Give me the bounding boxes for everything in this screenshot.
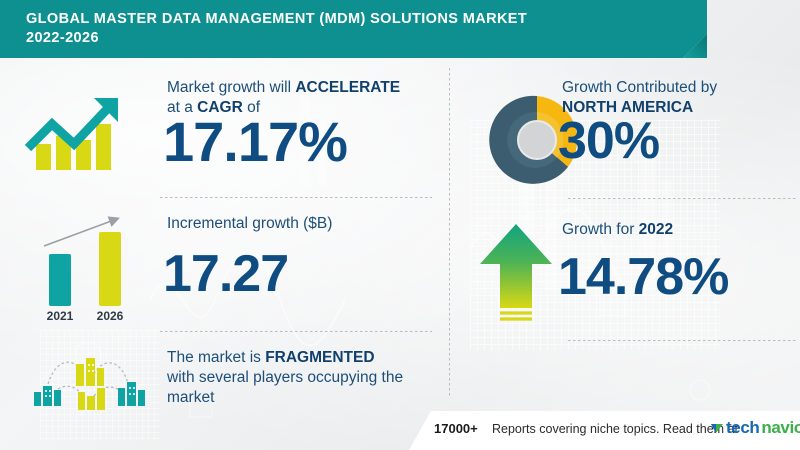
technavio-logo[interactable]: technavio® xyxy=(710,418,800,438)
region-contribution-value: 30% xyxy=(558,112,659,170)
divider-left-1 xyxy=(160,197,432,198)
fragmentation-label-line3: market xyxy=(167,389,214,406)
infographic-canvas: GLOBAL MASTER DATA MANAGEMENT (MDM) SOLU… xyxy=(0,0,800,450)
bar-right-label: 2026 xyxy=(97,309,124,323)
yearly-growth-label-bold: 2022 xyxy=(639,221,673,238)
divider-right-1 xyxy=(568,198,798,199)
fragmented-market-icon xyxy=(28,352,150,414)
yearly-growth-value: 14.78% xyxy=(558,248,728,306)
fragmentation-label-bold: FRAGMENTED xyxy=(265,349,374,366)
page-title: GLOBAL MASTER DATA MANAGEMENT (MDM) SOLU… xyxy=(26,10,686,48)
page-title-line2: 2022-2026 xyxy=(26,29,686,48)
yearly-growth-label: Growth for 2022 xyxy=(562,220,797,240)
bar-comparison-icon: 2021 2026 xyxy=(24,210,149,325)
divider-right-2 xyxy=(568,340,798,341)
cagr-label-bold: ACCELERATE xyxy=(295,79,400,96)
footer-report-count: 17000+ xyxy=(434,421,478,436)
column-divider xyxy=(449,68,450,398)
page-title-line1: GLOBAL MASTER DATA MANAGEMENT (MDM) SOLU… xyxy=(26,11,527,27)
technavio-logo-tech: tech xyxy=(726,418,759,438)
divider-left-2 xyxy=(160,331,432,332)
incremental-growth-label: Incremental growth ($B) xyxy=(167,214,432,234)
growth-chart-icon xyxy=(22,92,132,177)
yearly-growth-label-prefix: Growth for xyxy=(562,221,639,238)
bar-left-label: 2021 xyxy=(47,309,74,323)
cagr-label-prefix: Market growth will xyxy=(167,79,295,96)
fragmentation-label-line2: with several players occupying the xyxy=(167,369,403,386)
incremental-growth-value: 17.27 xyxy=(163,245,288,303)
technavio-logo-navio: navio xyxy=(761,418,800,438)
fragmentation-label-prefix: The market is xyxy=(167,349,265,366)
cagr-value: 17.17% xyxy=(163,112,347,172)
technavio-mark-icon xyxy=(710,421,724,435)
up-arrow-icon xyxy=(478,222,554,326)
fragmentation-label: The market is FRAGMENTED with several pl… xyxy=(167,348,437,408)
footer-tagline: Reports covering niche topics. Read them… xyxy=(492,422,738,436)
region-contribution-line1: Growth Contributed by xyxy=(562,79,717,96)
